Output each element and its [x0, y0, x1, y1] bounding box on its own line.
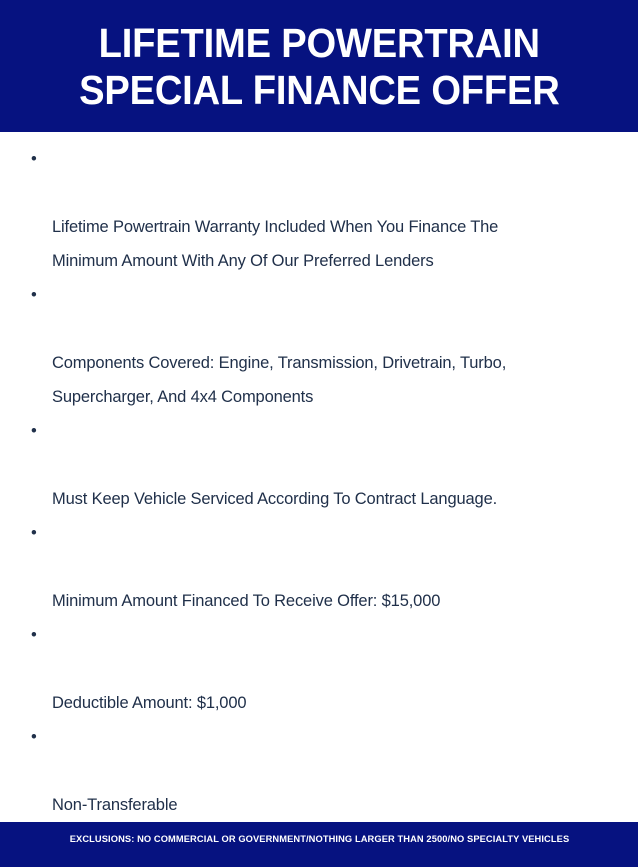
- list-item-text: Must Keep Vehicle Serviced According To …: [52, 490, 497, 508]
- page-title-line-1: LIFETIME POWERTRAIN: [98, 20, 539, 67]
- page-title-line-2: SPECIAL FINANCE OFFER: [79, 67, 560, 114]
- list-item-text: Lifetime Powertrain Warranty Included Wh…: [52, 218, 498, 270]
- exclusions-disclaimer: EXCLUSIONS: NO COMMERCIAL OR GOVERNMENT/…: [69, 834, 569, 845]
- header-banner: LIFETIME POWERTRAIN SPECIAL FINANCE OFFE…: [0, 0, 638, 132]
- list-item: • Lifetime Powertrain Warranty Included …: [18, 142, 620, 278]
- offer-slide: LIFETIME POWERTRAIN SPECIAL FINANCE OFFE…: [0, 0, 638, 479]
- list-item-text: Components Covered: Engine, Transmission…: [52, 354, 506, 406]
- list-item: • Minimum Amount Financed To Receive Off…: [18, 516, 620, 618]
- bullet-dot-icon: •: [31, 720, 37, 754]
- list-item: • Non-Transferable: [18, 720, 620, 822]
- list-item-text: Non-Transferable: [52, 796, 177, 814]
- offer-terms-list: • Lifetime Powertrain Warranty Included …: [18, 142, 620, 822]
- list-item-text: Minimum Amount Financed To Receive Offer…: [52, 592, 440, 610]
- list-item: • Components Covered: Engine, Transmissi…: [18, 278, 620, 414]
- bullet-dot-icon: •: [31, 516, 37, 550]
- list-item: • Deductible Amount: $1,000: [18, 618, 620, 720]
- list-item: • Must Keep Vehicle Serviced According T…: [18, 414, 620, 516]
- bullet-dot-icon: •: [31, 142, 37, 176]
- footer-banner: EXCLUSIONS: NO COMMERCIAL OR GOVERNMENT/…: [0, 822, 638, 867]
- bullet-dot-icon: •: [31, 618, 37, 652]
- bullet-dot-icon: •: [31, 414, 37, 448]
- body-content: • Lifetime Powertrain Warranty Included …: [0, 132, 638, 822]
- list-item-text: Deductible Amount: $1,000: [52, 694, 246, 712]
- bullet-dot-icon: •: [31, 278, 37, 312]
